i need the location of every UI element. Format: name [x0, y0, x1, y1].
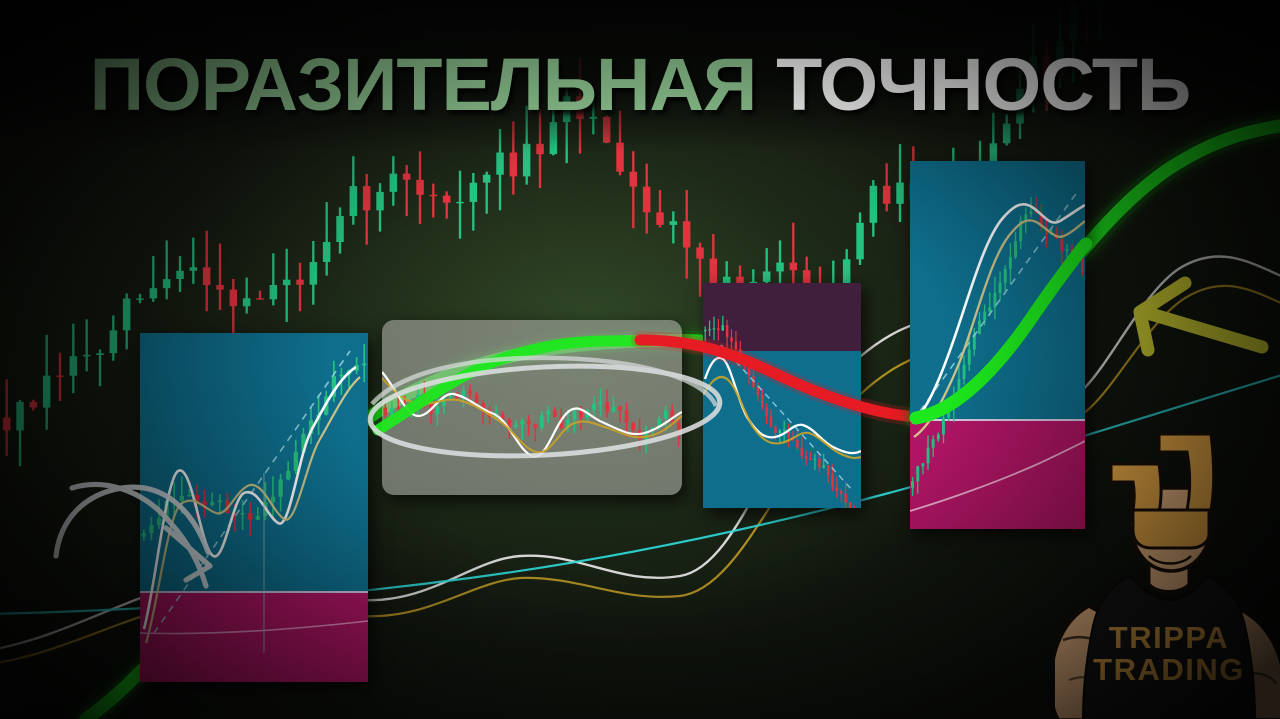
thumbnail-canvas: ПОРАЗИТЕЛЬНАЯ ТОЧНОСТЬ [0, 0, 1280, 719]
vignette-overlay [0, 0, 1280, 719]
